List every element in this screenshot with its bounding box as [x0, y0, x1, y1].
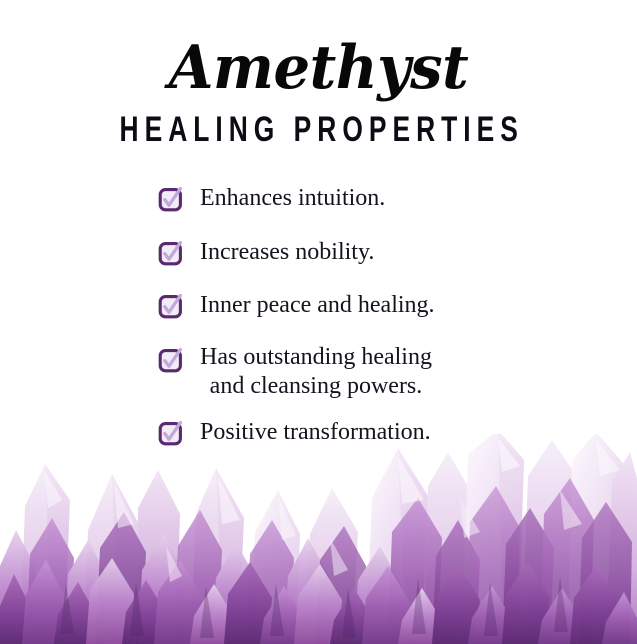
list-item-label: Inner peace and healing. [200, 289, 435, 321]
amethyst-healing-properties-poster: Amethyst HEALING PROPERTIES Enhances int… [0, 0, 637, 644]
poster-header: Amethyst HEALING PROPERTIES [0, 0, 637, 145]
list-item: Inner peace and healing. [0, 289, 637, 321]
amethyst-crystal-cluster-photo [0, 434, 637, 644]
list-item: Increases nobility. [0, 236, 637, 268]
page-subtitle: HEALING PROPERTIES [64, 97, 574, 147]
checkbox-checked-icon [158, 293, 184, 319]
list-item-label: Increases nobility. [200, 236, 374, 268]
healing-properties-list: Enhances intuition. Increases nobility. … [0, 182, 637, 469]
list-item: Has outstanding healing and cleansing po… [0, 343, 637, 402]
list-item-label: Has outstanding healing and cleansing po… [200, 343, 432, 402]
checkbox-checked-icon [158, 186, 184, 212]
checkbox-checked-icon [158, 347, 184, 373]
list-item: Enhances intuition. [0, 182, 637, 214]
list-item-label: Enhances intuition. [200, 182, 385, 214]
page-title: Amethyst [13, 0, 625, 98]
checkbox-checked-icon [158, 240, 184, 266]
